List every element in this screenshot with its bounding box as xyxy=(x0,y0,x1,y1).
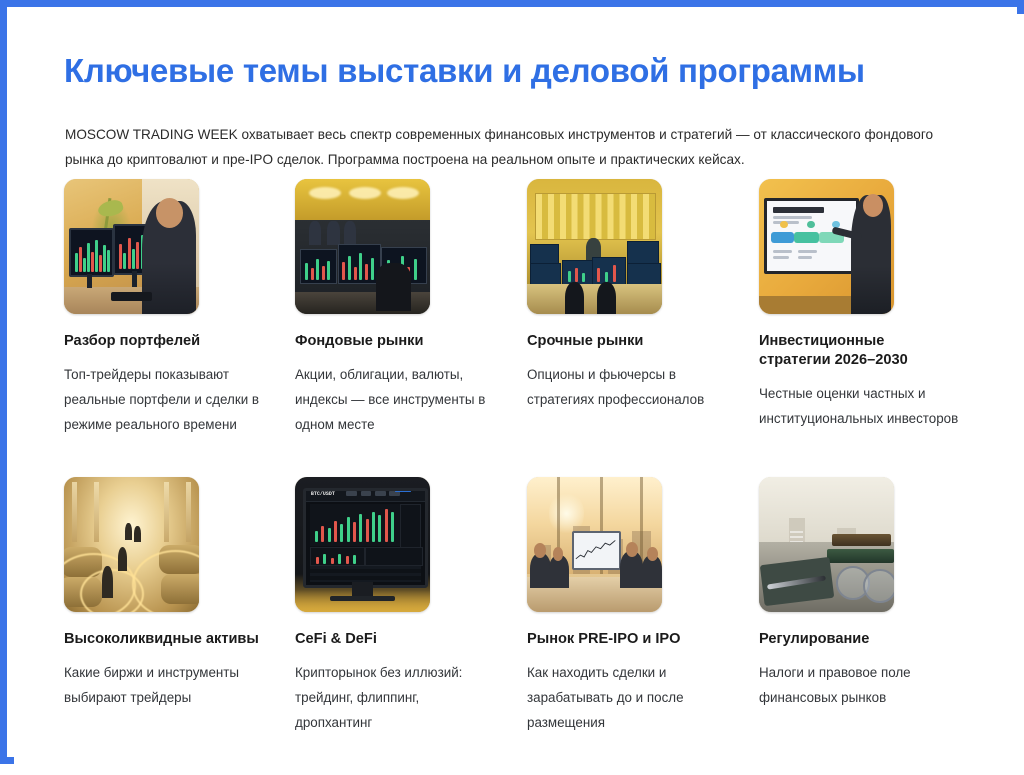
card-title: CeFi & DeFi xyxy=(295,630,495,649)
card-description: Как находить сделки и зарабатывать до и … xyxy=(527,660,727,735)
topic-card[interactable]: BTC/USDT xyxy=(295,477,495,735)
card-title: Срочные рынки xyxy=(527,332,727,351)
topics-grid: Разбор портфелей Топ-трейдеры показывают… xyxy=(14,179,1024,775)
topic-card[interactable]: Срочные рынки Опционы и фьючерсы в страт… xyxy=(527,179,727,412)
card-description: Топ-трейдеры показывают реальные портфел… xyxy=(64,362,264,437)
topic-card[interactable]: Фондовые рынки Акции, облигации, валюты,… xyxy=(295,179,495,437)
topic-card[interactable]: Высоколиквидные активы Какие биржи и инс… xyxy=(64,477,264,710)
card-description: Честные оценки частных и институциональн… xyxy=(759,381,959,431)
slide-content: Ключевые темы выставки и деловой програм… xyxy=(14,14,1024,764)
topic-card[interactable]: Регулирование Налоги и правовое поле фин… xyxy=(759,477,959,710)
topics-row-1: Разбор портфелей Топ-трейдеры показывают… xyxy=(14,179,1024,477)
trader-dual-monitors-photo xyxy=(64,179,199,314)
card-title: Разбор портфелей xyxy=(64,332,264,351)
card-description: Налоги и правовое поле финансовых рынков xyxy=(759,660,959,710)
intro-paragraph: MOSCOW TRADING WEEK охватывает весь спек… xyxy=(65,122,970,172)
card-description: Опционы и фьючерсы в стратегиях професси… xyxy=(527,362,727,412)
card-description: Акции, облигации, валюты, индексы — все … xyxy=(295,362,495,437)
strategy-presentation-board-photo xyxy=(759,179,894,314)
topic-card[interactable]: Разбор портфелей Топ-трейдеры показывают… xyxy=(64,179,264,437)
golden-exchange-floor-photo xyxy=(64,477,199,612)
card-description: Какие биржи и инструменты выбирают трейд… xyxy=(64,660,264,710)
law-books-desk-photo xyxy=(759,477,894,612)
card-title: Рынок PRE-IPO и IPO xyxy=(527,630,727,649)
topic-card[interactable]: Рынок PRE-IPO и IPO Как находить сделки … xyxy=(527,477,727,735)
topic-card[interactable]: Инвестиционные стратегии 2026–2030 Честн… xyxy=(759,179,959,431)
card-title: Инвестиционные стратегии 2026–2030 xyxy=(759,332,959,370)
card-title: Регулирование xyxy=(759,630,959,649)
slide-frame: Ключевые темы выставки и деловой програм… xyxy=(0,0,1024,764)
card-title: Фондовые рынки xyxy=(295,332,495,351)
page-title: Ключевые темы выставки и деловой програм… xyxy=(64,52,984,90)
ticker-label: BTC/USDT xyxy=(311,491,335,497)
card-title: Высоколиквидные активы xyxy=(64,630,264,649)
meeting-room-sunset-photo xyxy=(527,477,662,612)
yellow-trading-room-photo xyxy=(527,179,662,314)
card-description: Крипторынок без иллюзий: трейдинг, флипп… xyxy=(295,660,495,735)
topics-row-2: Высоколиквидные активы Какие биржи и инс… xyxy=(14,477,1024,775)
trading-floor-yellow-ceiling-photo xyxy=(295,179,430,314)
crypto-terminal-photo: BTC/USDT xyxy=(295,477,430,612)
